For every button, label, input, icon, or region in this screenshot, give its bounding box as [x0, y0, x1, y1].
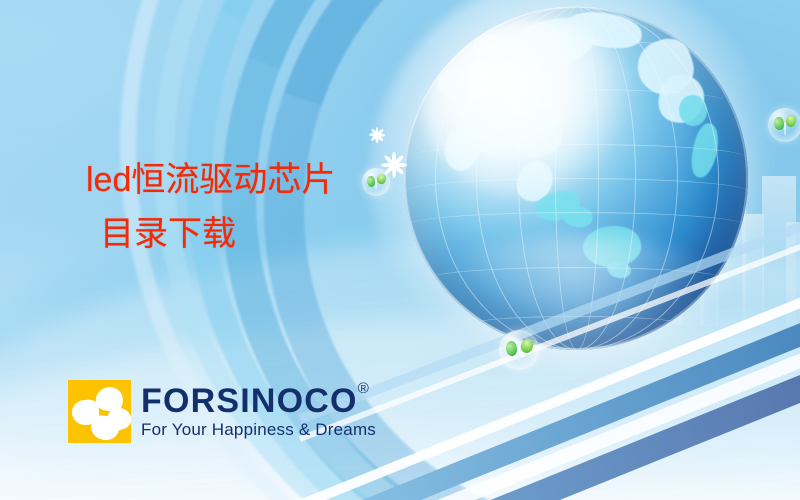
bubble-sprout	[773, 113, 797, 137]
registered-trademark-icon: ®	[358, 380, 369, 397]
sprout-leafb	[785, 114, 799, 129]
sprout-stem	[517, 346, 520, 362]
logo-text-block: FORSINOCO® For Your Happiness & Dreams	[141, 384, 376, 440]
headline-line-1: led恒流驱动芯片	[86, 163, 466, 197]
brand-tagline: For Your Happiness & Dreams	[141, 421, 376, 440]
page-title: led恒流驱动芯片 目录下载	[86, 163, 466, 251]
bubble-sprout-right-icon	[768, 108, 800, 142]
headline-line-2: 目录下载	[100, 217, 466, 251]
bubble-sprout	[505, 336, 533, 364]
sprout-leafb	[519, 337, 535, 354]
poster-canvas: led恒流驱动芯片 目录下载 FORSINOCO® For Your Happi…	[0, 0, 800, 500]
brand-name: FORSINOCO®	[141, 384, 376, 418]
company-logo: FORSINOCO® For Your Happiness & Dreams	[68, 380, 376, 443]
sprout-leafa	[772, 116, 785, 131]
bubble-sprout-lower-icon	[499, 330, 539, 370]
white-flower-small-icon	[369, 127, 385, 143]
brand-word: FORSINOCO	[141, 382, 358, 420]
forsinoco-flower-mark-icon	[68, 380, 131, 443]
